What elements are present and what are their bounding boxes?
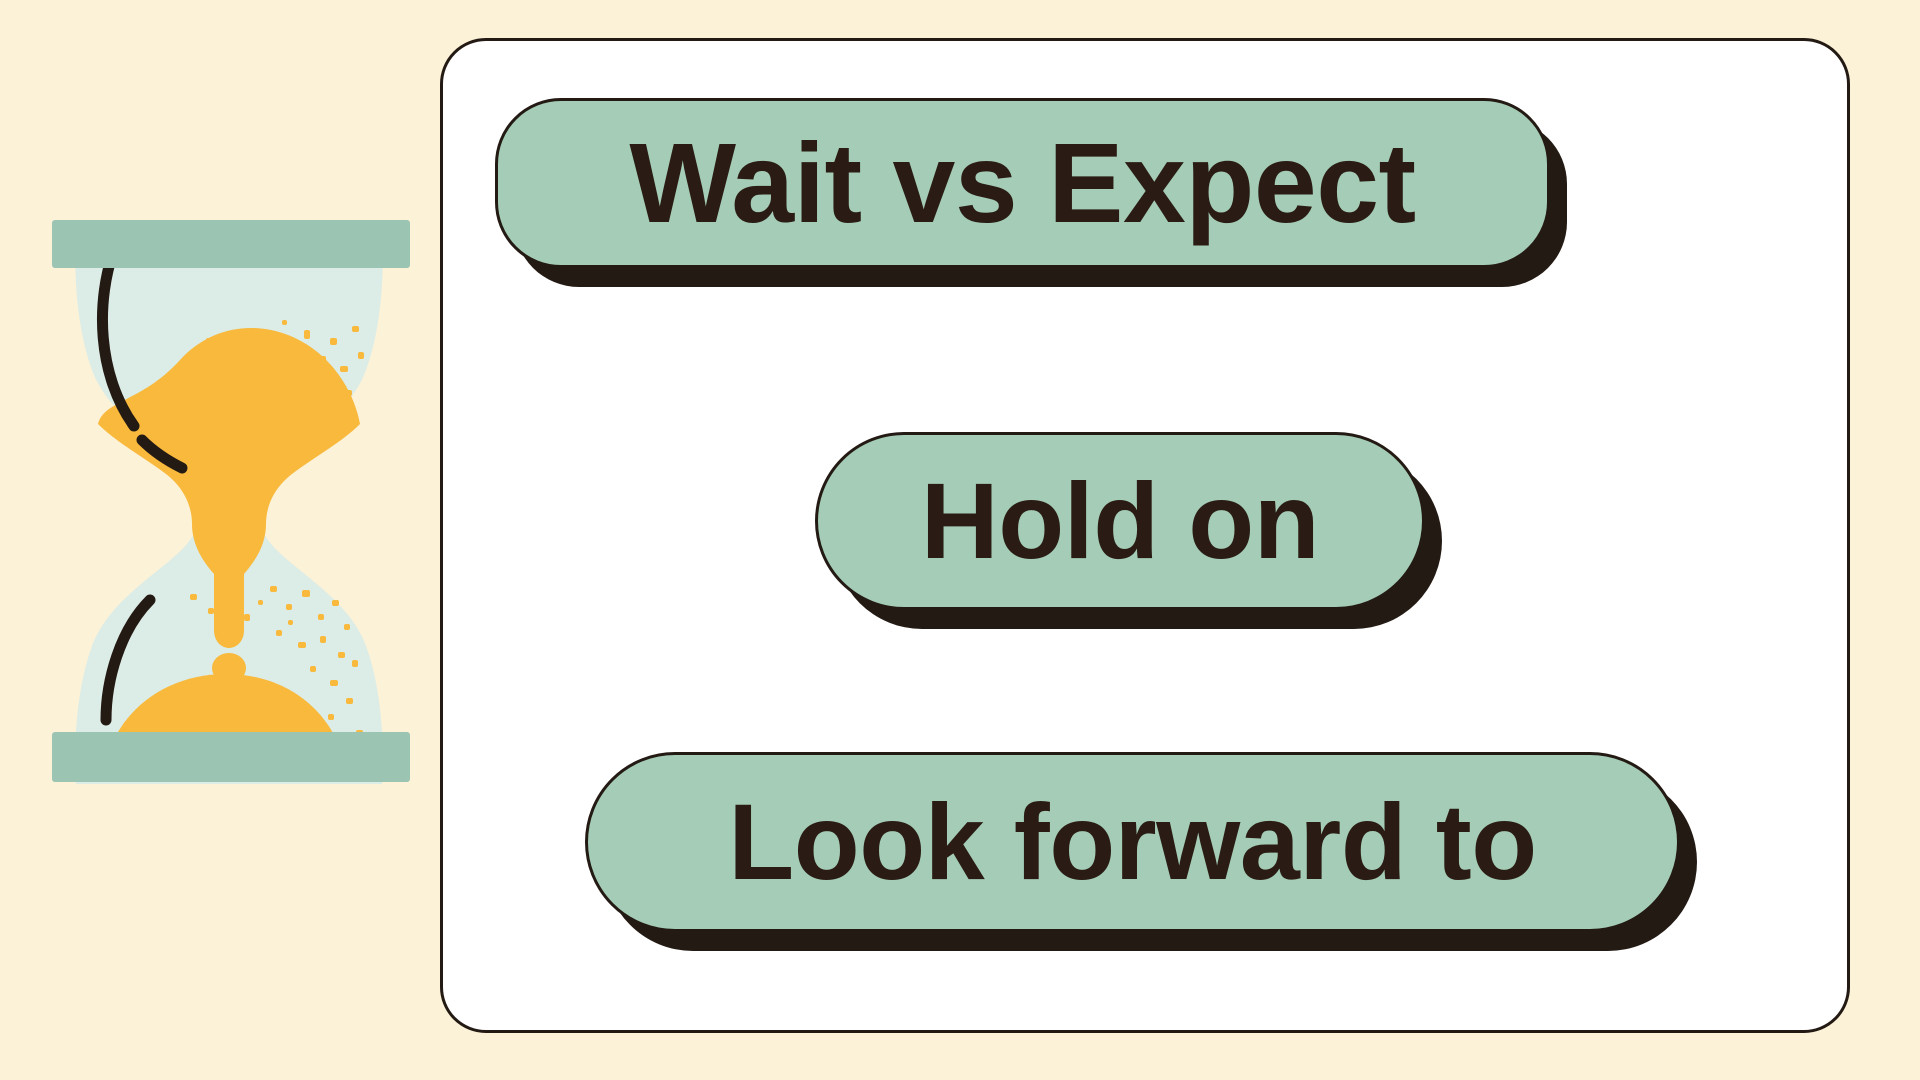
badge-hold-on[interactable]: Hold on bbox=[815, 432, 1425, 610]
hourglass-icon bbox=[30, 190, 430, 800]
hourglass-bottom-bar bbox=[52, 732, 410, 782]
hourglass-top-bar bbox=[52, 220, 410, 268]
badge-look-forward-to-label: Look forward to bbox=[588, 755, 1677, 929]
badge-title-label: Wait vs Expect bbox=[498, 101, 1547, 265]
badge-wrapper-title: Wait vs Expect bbox=[495, 98, 1550, 268]
badge-title[interactable]: Wait vs Expect bbox=[495, 98, 1550, 268]
badge-wrapper-hold-on: Hold on bbox=[815, 432, 1425, 610]
badge-wrapper-look-forward-to: Look forward to bbox=[585, 752, 1680, 932]
badge-hold-on-label: Hold on bbox=[818, 435, 1422, 607]
badge-look-forward-to[interactable]: Look forward to bbox=[585, 752, 1680, 932]
hourglass-illustration bbox=[30, 190, 430, 800]
slide-canvas: Wait vs Expect Hold on Look forward to bbox=[0, 0, 1920, 1080]
